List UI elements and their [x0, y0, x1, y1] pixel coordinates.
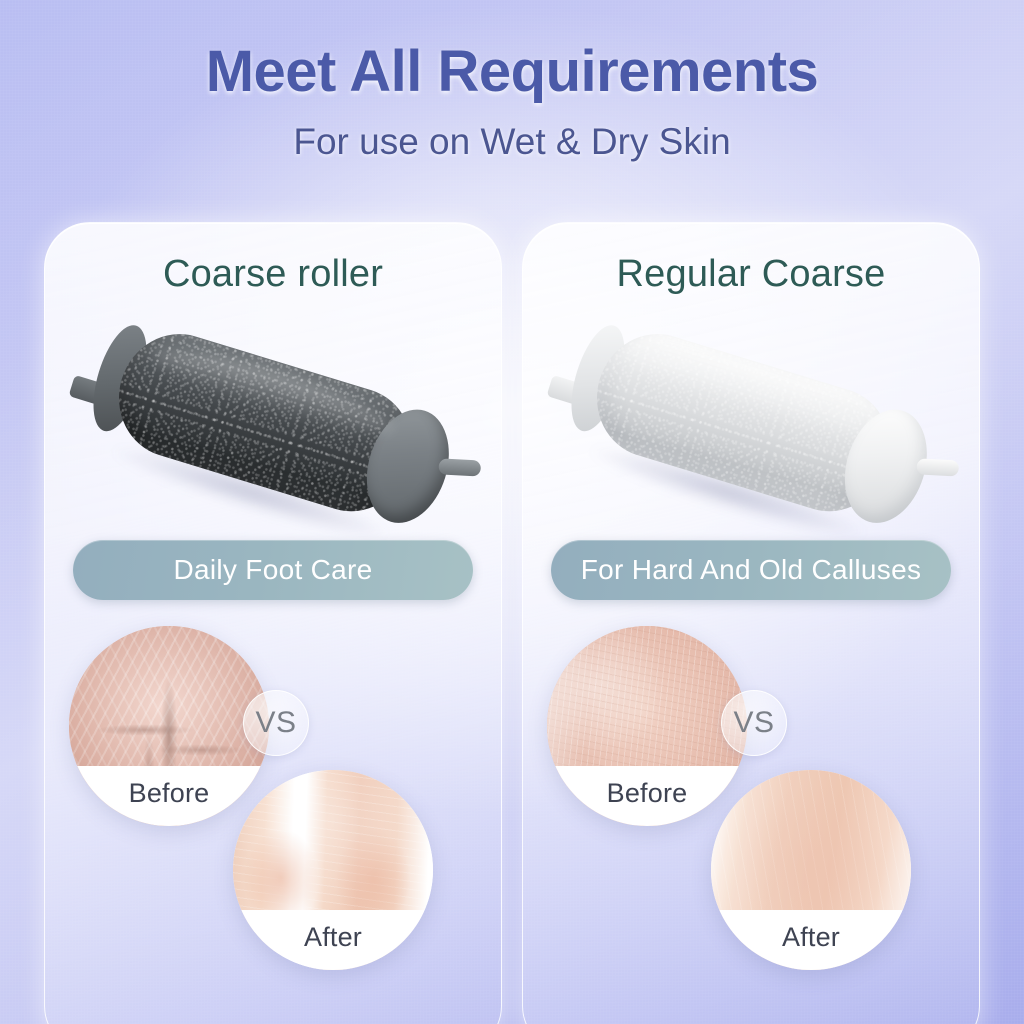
vs-badge: VS	[721, 690, 787, 756]
page-subtitle: For use on Wet & Dry Skin	[0, 121, 1024, 163]
before-label: Before	[129, 778, 210, 809]
vs-badge: VS	[243, 690, 309, 756]
after-label: After	[304, 922, 362, 953]
roller-drive-pin	[438, 459, 481, 477]
after-label: After	[782, 922, 840, 953]
card-title: Coarse roller	[45, 253, 501, 296]
usage-pill-hard-old-calluses[interactable]: For Hard And Old Calluses	[551, 540, 951, 600]
usage-pill-daily-foot-care[interactable]: Daily Foot Care	[73, 540, 473, 600]
after-label-band: After	[233, 910, 433, 970]
before-label: Before	[607, 778, 688, 809]
product-image-coarse-roller	[45, 309, 501, 533]
card-coarse-roller[interactable]: Coarse roller Daily Foot Care	[44, 222, 502, 1024]
roller-drive-pin	[916, 459, 959, 477]
pill-label: For Hard And Old Calluses	[581, 554, 922, 586]
before-after-comparison: Before VS After	[523, 618, 979, 1024]
page-title: Meet All Requirements	[0, 42, 1024, 103]
comparison-cards: Coarse roller Daily Foot Care	[44, 222, 980, 1024]
pill-label: Daily Foot Care	[173, 554, 372, 586]
promo-banner: Meet All Requirements For use on Wet & D…	[0, 0, 1024, 1024]
card-title: Regular Coarse	[523, 253, 979, 296]
banner-header: Meet All Requirements For use on Wet & D…	[0, 0, 1024, 163]
after-photo-circle: After	[711, 770, 911, 970]
regular-coarse-roller-head	[565, 315, 938, 536]
vs-label: VS	[255, 706, 296, 740]
after-label-band: After	[711, 910, 911, 970]
coarse-roller-head	[87, 315, 460, 536]
card-regular-coarse[interactable]: Regular Coarse For Hard And Old Calluses	[522, 222, 980, 1024]
product-image-regular-coarse	[523, 309, 979, 533]
after-photo-circle: After	[233, 770, 433, 970]
vs-label: VS	[733, 706, 774, 740]
before-after-comparison: Before VS After	[45, 618, 501, 1024]
